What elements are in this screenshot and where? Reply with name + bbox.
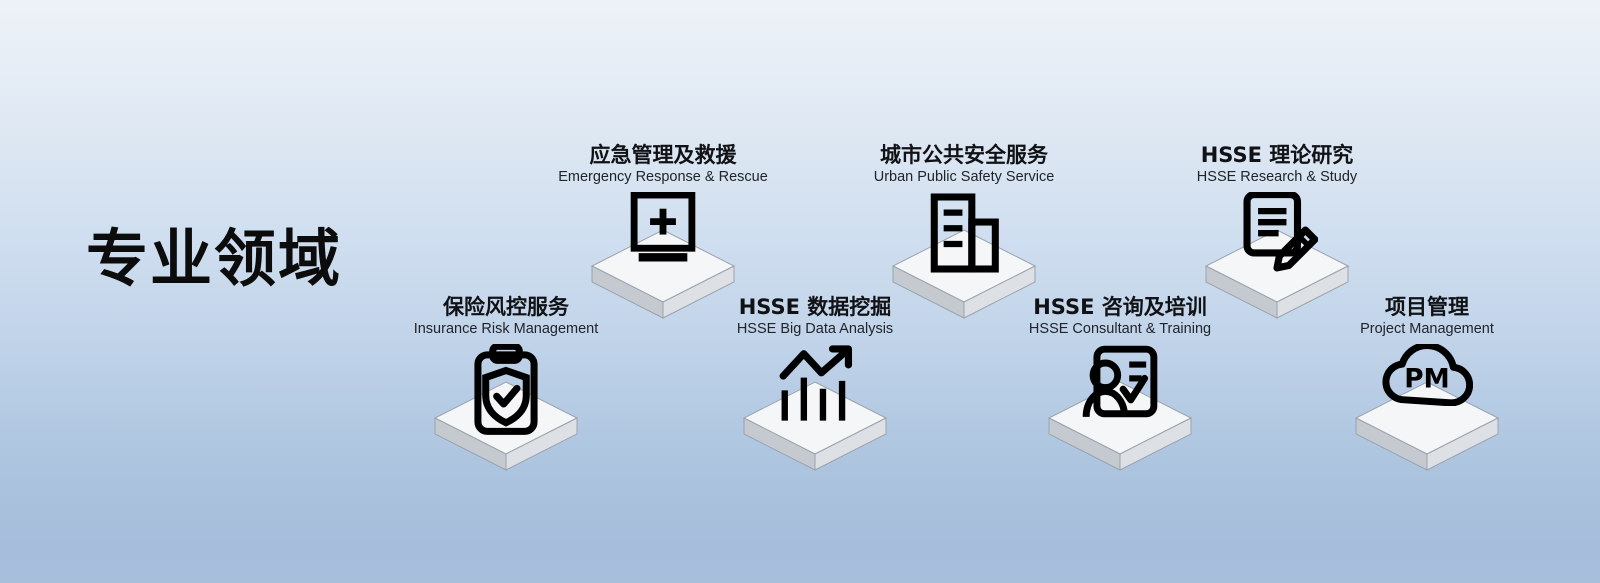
cloud-pm-icon: PM bbox=[1381, 344, 1473, 406]
domain-label-en: Insurance Risk Management bbox=[366, 321, 646, 338]
domain-label-cn: HSSE 理论研究 bbox=[1137, 144, 1417, 166]
domain-item-hsse-big-data-analysis[interactable]: HSSE 数据挖掘 HSSE Big Data Analysis bbox=[675, 296, 955, 474]
domain-item-insurance-risk-management[interactable]: 保险风控服务 Insurance Risk Management bbox=[366, 296, 646, 474]
domain-label-cn: 项目管理 bbox=[1287, 296, 1567, 318]
domain-item-art: PM bbox=[1287, 344, 1567, 474]
domain-label-cn: 城市公共安全服务 bbox=[824, 144, 1104, 166]
document-pencil-icon bbox=[1236, 192, 1318, 276]
domain-item-labels: 应急管理及救援 Emergency Response & Rescue bbox=[523, 144, 803, 186]
domain-item-art bbox=[980, 344, 1260, 474]
professional-domains-banner: 专业领域 保险风控服务 Insurance Risk Management 应急… bbox=[0, 0, 1600, 583]
domain-item-labels: 项目管理 Project Management bbox=[1287, 296, 1567, 338]
domain-label-en: Project Management bbox=[1287, 321, 1567, 338]
domain-item-project-management[interactable]: 项目管理 Project Management PM bbox=[1287, 296, 1567, 474]
domain-item-labels: 城市公共安全服务 Urban Public Safety Service bbox=[824, 144, 1104, 186]
monitor-medical-plus-icon bbox=[623, 192, 703, 268]
bar-chart-trending-up-icon bbox=[772, 344, 858, 424]
domain-label-cn: 应急管理及救援 bbox=[523, 144, 803, 166]
domain-item-art bbox=[366, 344, 646, 474]
clipboard-shield-check-icon bbox=[467, 344, 545, 436]
domain-item-labels: HSSE 理论研究 HSSE Research & Study bbox=[1137, 144, 1417, 186]
page-title: 专业领域 bbox=[86, 228, 342, 290]
domain-label-en: Urban Public Safety Service bbox=[824, 169, 1104, 186]
domain-label-en: HSSE Big Data Analysis bbox=[675, 321, 955, 338]
domain-label-en: Emergency Response & Rescue bbox=[523, 169, 803, 186]
domain-item-hsse-consultant-training[interactable]: HSSE 咨询及培训 HSSE Consultant & Training bbox=[980, 296, 1260, 474]
domain-label-en: HSSE Research & Study bbox=[1137, 169, 1417, 186]
domain-item-art bbox=[675, 344, 955, 474]
svg-text:PM: PM bbox=[1404, 365, 1450, 395]
city-buildings-icon bbox=[928, 192, 1000, 274]
id-card-person-check-icon bbox=[1080, 344, 1160, 422]
domain-label-en: HSSE Consultant & Training bbox=[980, 321, 1260, 338]
